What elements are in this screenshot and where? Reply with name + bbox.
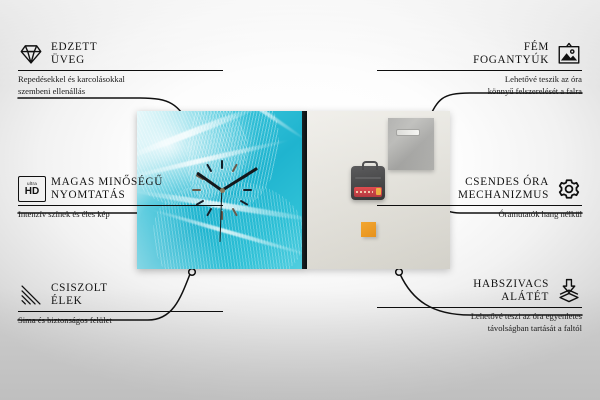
- infographic-canvas: EDZETT ÜVEG Repedésekkel és karcolásokka…: [0, 0, 600, 400]
- mechanism-hook: [362, 161, 378, 170]
- callout-title: FÉM FOGANTYÚK: [473, 41, 549, 67]
- callout-description: Repedésekkel és karcolásokkal szembeni e…: [18, 74, 223, 96]
- wire-dot-polished-edges: [189, 269, 196, 276]
- callout-tempered-glass: EDZETT ÜVEG Repedésekkel és karcolásokka…: [18, 41, 223, 97]
- callout-hd-print: ultra HD MAGAS MINŐSÉGŰ NYOMTATÁS Intenz…: [18, 176, 223, 221]
- callout-silent-mechanism: CSENDES ÓRA MECHANIZMUS Óramutatók hang …: [377, 176, 582, 221]
- callout-title: CSENDES ÓRA MECHANIZMUS: [458, 176, 549, 202]
- divider: [377, 70, 582, 71]
- metal-hanger-plate: [388, 118, 434, 170]
- callout-description: Lehetővé teszik az óra könnyű felszerelé…: [377, 74, 582, 96]
- diamond-icon: [18, 41, 44, 67]
- callout-title: MAGAS MINŐSÉGŰ NYOMTATÁS: [51, 176, 163, 202]
- polished-edge-icon: [18, 282, 44, 308]
- hanger-slot: [396, 129, 420, 136]
- divider: [18, 205, 223, 206]
- wire-metal-handles: [427, 93, 582, 122]
- hd-label: HD: [25, 187, 39, 197]
- wire-dot-foam-pad: [396, 269, 403, 276]
- divider: [377, 205, 582, 206]
- callout-description: Óramutatók hang nélkül: [377, 209, 582, 220]
- foam-pad: [361, 222, 376, 237]
- callout-description: Sima és biztonságos felület: [18, 315, 223, 326]
- divider: [18, 70, 223, 71]
- callout-title: EDZETT ÜVEG: [51, 41, 97, 67]
- callout-title: CSISZOLT ÉLEK: [51, 282, 108, 308]
- callout-metal-handles: FÉM FOGANTYÚK Lehetővé teszik az óra kön…: [377, 41, 582, 97]
- battery-label: [356, 191, 373, 193]
- divider: [18, 311, 223, 312]
- callout-description: Lehetővé teszi az óra egyenletes távolsá…: [377, 311, 582, 333]
- callout-foam-pad: HABSZIVACS ALÁTÉT Lehetővé teszi az óra …: [377, 278, 582, 334]
- callout-title: HABSZIVACS ALÁTÉT: [473, 278, 549, 304]
- callout-polished-edges: CSISZOLT ÉLEK Sima és biztonságos felüle…: [18, 282, 223, 327]
- callout-description: Intenzív színek és éles kép: [18, 209, 223, 220]
- picture-hanger-icon: [556, 41, 582, 67]
- ultra-hd-icon: ultra HD: [18, 176, 44, 202]
- gear-icon: [556, 176, 582, 202]
- divider: [377, 307, 582, 308]
- press-down-layers-icon: [556, 278, 582, 304]
